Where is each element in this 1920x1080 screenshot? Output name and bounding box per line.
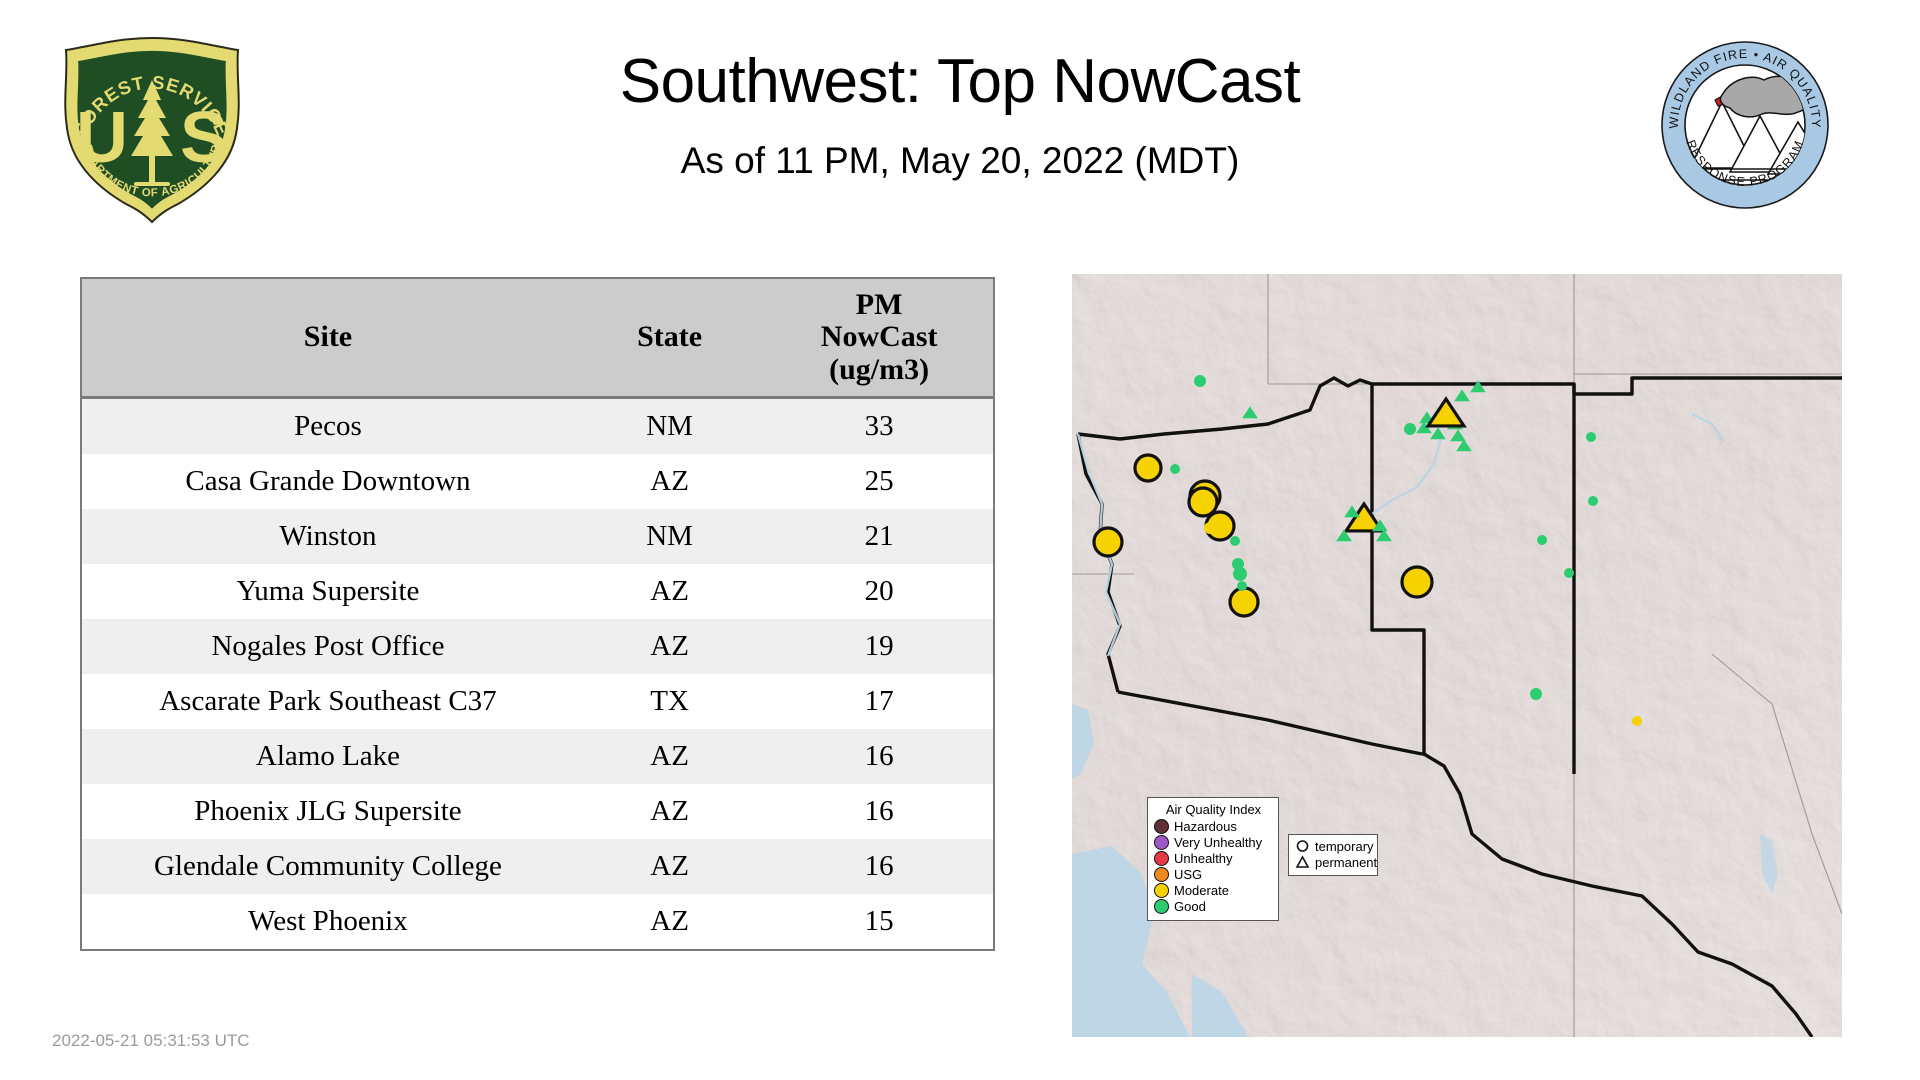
- map-marker-temporary[interactable]: [1230, 588, 1258, 616]
- site-cell: Ascarate Park Southeast C37: [82, 674, 574, 729]
- value-cell: 33: [765, 398, 993, 455]
- table-row: Ascarate Park Southeast C37TX17: [82, 674, 993, 729]
- value-cell: 21: [765, 509, 993, 564]
- legend-item-permanent: permanent: [1295, 855, 1372, 869]
- column-header-site: Site: [82, 279, 574, 398]
- map-marker-temporary[interactable]: [1564, 568, 1574, 578]
- map-marker-temporary[interactable]: [1237, 581, 1247, 591]
- value-cell: 15: [765, 894, 993, 949]
- site-cell: Winston: [82, 509, 574, 564]
- aqi-legend: Air Quality Index HazardousVery Unhealth…: [1147, 797, 1279, 921]
- aqi-legend-title: Air Quality Index: [1154, 802, 1273, 817]
- map-marker-temporary[interactable]: [1588, 496, 1598, 506]
- map-marker-temporary[interactable]: [1586, 432, 1596, 442]
- column-header-pm-nowcast: PM NowCast (ug/m3): [765, 279, 993, 398]
- map-marker-temporary[interactable]: [1189, 488, 1217, 516]
- state-cell: AZ: [574, 784, 765, 839]
- aqi-legend-label: Good: [1174, 900, 1206, 913]
- state-cell: NM: [574, 509, 765, 564]
- site-cell: West Phoenix: [82, 894, 574, 949]
- value-cell: 16: [765, 839, 993, 894]
- state-cell: AZ: [574, 894, 765, 949]
- southwest-monitor-map[interactable]: Air Quality Index HazardousVery Unhealth…: [1072, 274, 1842, 1037]
- column-header-pm-line2: NowCast: [769, 321, 989, 353]
- map-marker-temporary[interactable]: [1135, 455, 1161, 481]
- map-marker-temporary[interactable]: [1537, 535, 1547, 545]
- monitor-type-legend: temporary permanent: [1288, 834, 1378, 876]
- site-cell: Yuma Supersite: [82, 564, 574, 619]
- column-header-pm-line1: PM: [769, 289, 989, 321]
- aqi-color-swatch-icon: [1154, 883, 1169, 898]
- table-header-row: Site State PM NowCast (ug/m3): [82, 279, 993, 398]
- state-cell: AZ: [574, 564, 765, 619]
- aqi-legend-label: Unhealthy: [1174, 852, 1233, 865]
- table-body: PecosNM33Casa Grande DowntownAZ25Winston…: [82, 398, 993, 950]
- table-head: Site State PM NowCast (ug/m3): [82, 279, 993, 398]
- state-cell: AZ: [574, 619, 765, 674]
- value-cell: 20: [765, 564, 993, 619]
- page-subtitle: As of 11 PM, May 20, 2022 (MDT): [0, 140, 1920, 182]
- map-marker-temporary[interactable]: [1204, 522, 1216, 534]
- slide-root: FOREST SERVICE DEPARTMENT OF AGRICULTURE…: [0, 0, 1920, 1080]
- aqi-color-swatch-icon: [1154, 851, 1169, 866]
- column-header-state: State: [574, 279, 765, 398]
- legend-label-temporary: temporary: [1315, 840, 1374, 853]
- footer-timestamp: 2022-05-21 05:31:53 UTC: [52, 1031, 250, 1051]
- table-row: Alamo LakeAZ16: [82, 729, 993, 784]
- site-cell: Glendale Community College: [82, 839, 574, 894]
- value-cell: 17: [765, 674, 993, 729]
- aqi-legend-label: USG: [1174, 868, 1202, 881]
- site-cell: Nogales Post Office: [82, 619, 574, 674]
- state-cell: NM: [574, 398, 765, 455]
- aqi-legend-rows: HazardousVery UnhealthyUnhealthyUSGModer…: [1154, 819, 1273, 914]
- map-terrain-relief: [1072, 274, 1842, 1037]
- circle-icon: [1295, 839, 1310, 853]
- aqi-legend-label: Hazardous: [1174, 820, 1237, 833]
- map-marker-temporary[interactable]: [1632, 716, 1642, 726]
- table-row: West PhoenixAZ15: [82, 894, 993, 949]
- map-marker-temporary[interactable]: [1170, 464, 1180, 474]
- map-basemap-svg: [1072, 274, 1842, 1037]
- value-cell: 16: [765, 729, 993, 784]
- value-cell: 25: [765, 454, 993, 509]
- map-marker-temporary[interactable]: [1194, 375, 1206, 387]
- site-cell: Pecos: [82, 398, 574, 455]
- aqi-legend-label: Very Unhealthy: [1174, 836, 1262, 849]
- top-nowcast-table-container: Site State PM NowCast (ug/m3) PecosNM33C…: [80, 277, 995, 951]
- aqi-legend-item: Moderate: [1154, 883, 1273, 898]
- table-row: Glendale Community CollegeAZ16: [82, 839, 993, 894]
- triangle-icon: [1295, 855, 1310, 869]
- table-row: Yuma SupersiteAZ20: [82, 564, 993, 619]
- aqi-color-swatch-icon: [1154, 899, 1169, 914]
- page-title: Southwest: Top NowCast: [0, 48, 1920, 116]
- table-row: Nogales Post OfficeAZ19: [82, 619, 993, 674]
- aqi-color-swatch-icon: [1154, 835, 1169, 850]
- table-row: PecosNM33: [82, 398, 993, 455]
- map-marker-temporary[interactable]: [1404, 423, 1416, 435]
- state-cell: AZ: [574, 729, 765, 784]
- map-marker-temporary[interactable]: [1230, 536, 1240, 546]
- map-marker-temporary[interactable]: [1233, 567, 1247, 581]
- state-cell: AZ: [574, 839, 765, 894]
- table-row: WinstonNM21: [82, 509, 993, 564]
- value-cell: 16: [765, 784, 993, 839]
- site-cell: Alamo Lake: [82, 729, 574, 784]
- state-cell: TX: [574, 674, 765, 729]
- aqi-color-swatch-icon: [1154, 819, 1169, 834]
- column-header-pm-line3: (ug/m3): [769, 354, 989, 386]
- aqi-legend-item: Good: [1154, 899, 1273, 914]
- site-cell: Casa Grande Downtown: [82, 454, 574, 509]
- table-row: Casa Grande DowntownAZ25: [82, 454, 993, 509]
- aqi-legend-item: Hazardous: [1154, 819, 1273, 834]
- map-marker-temporary[interactable]: [1094, 528, 1122, 556]
- top-nowcast-table: Site State PM NowCast (ug/m3) PecosNM33C…: [82, 279, 993, 949]
- table-row: Phoenix JLG SupersiteAZ16: [82, 784, 993, 839]
- legend-item-temporary: temporary: [1295, 839, 1372, 853]
- legend-label-permanent: permanent: [1315, 856, 1377, 869]
- aqi-legend-item: USG: [1154, 867, 1273, 882]
- aqi-color-swatch-icon: [1154, 867, 1169, 882]
- value-cell: 19: [765, 619, 993, 674]
- aqi-legend-item: Very Unhealthy: [1154, 835, 1273, 850]
- map-marker-temporary[interactable]: [1402, 567, 1432, 597]
- aqi-legend-item: Unhealthy: [1154, 851, 1273, 866]
- aqi-legend-label: Moderate: [1174, 884, 1229, 897]
- site-cell: Phoenix JLG Supersite: [82, 784, 574, 839]
- state-cell: AZ: [574, 454, 765, 509]
- map-marker-temporary[interactable]: [1530, 688, 1542, 700]
